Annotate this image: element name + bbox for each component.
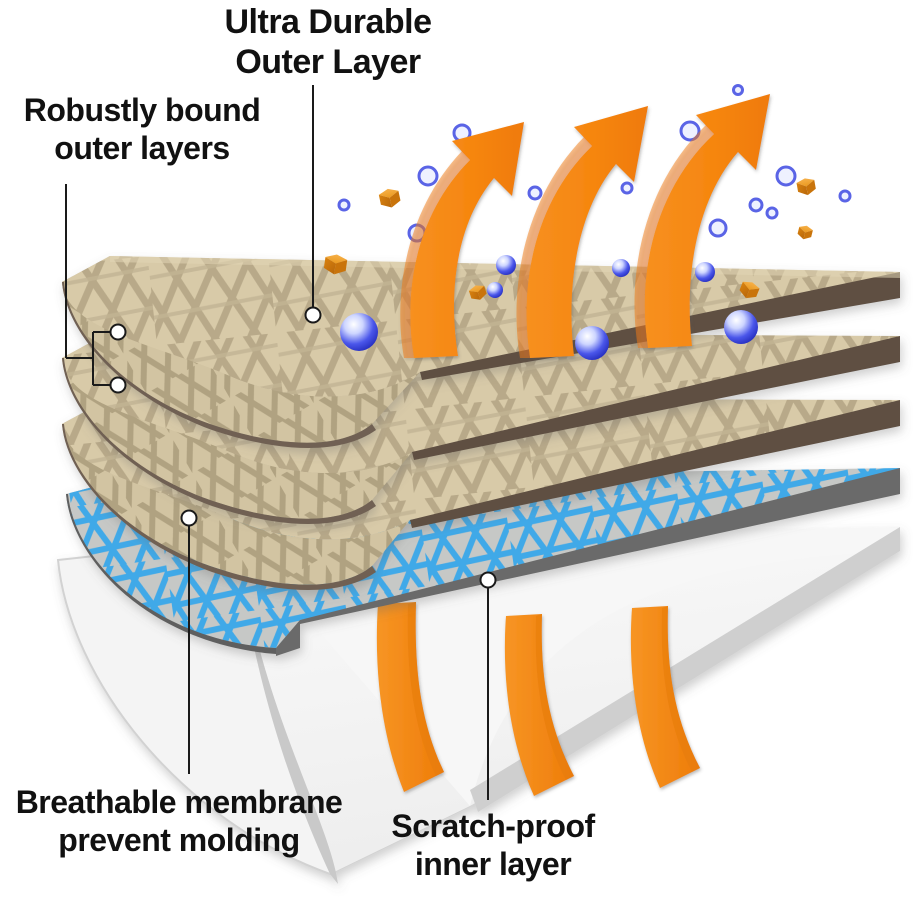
- callout-label-robustly-bound: Robustly bound outer layers: [8, 92, 276, 168]
- callout-label-ultra-durable: Ultra Durable Outer Layer: [198, 2, 458, 82]
- callout-label-breathable-membrane: Breathable membrane prevent molding: [4, 784, 354, 860]
- callout-label-scratch-proof: Scratch-proof inner layer: [368, 808, 618, 884]
